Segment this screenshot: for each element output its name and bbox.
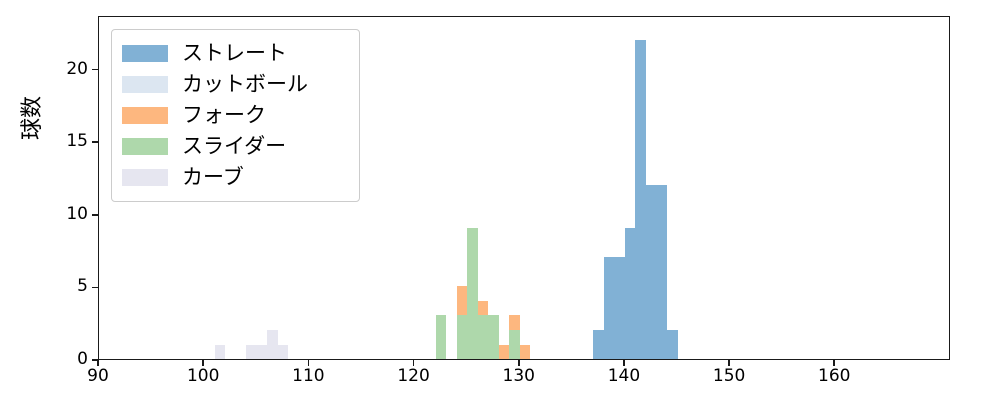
histogram-bar [520, 345, 531, 360]
y-tick-label: 5 [44, 276, 88, 296]
x-tick-label: 160 [804, 366, 864, 386]
legend-item[interactable]: スライダー [122, 131, 347, 162]
legend-color-swatch [122, 76, 168, 93]
legend-item[interactable]: ストレート [122, 38, 347, 69]
x-tick-label: 100 [173, 366, 233, 386]
histogram-bar [604, 257, 625, 359]
x-tick-label: 110 [278, 366, 338, 386]
histogram-bar [488, 315, 499, 359]
legend-item-label: カーブ [182, 167, 244, 188]
legend-item-label: スライダー [182, 136, 286, 157]
y-tick-label: 15 [44, 131, 88, 151]
histogram-bar [499, 345, 510, 360]
y-tick-label: 20 [44, 59, 88, 79]
legend[interactable]: ストレートカットボールフォークスライダーカーブ [111, 29, 360, 202]
legend-item-label: ストレート [182, 43, 287, 64]
histogram-bar [467, 228, 478, 359]
legend-item-label: カットボール [182, 74, 308, 95]
x-tick-label: 90 [68, 366, 128, 386]
legend-color-swatch [122, 45, 168, 62]
histogram-bar [478, 315, 489, 359]
histogram-bar [246, 345, 267, 360]
legend-color-swatch [122, 138, 168, 155]
histogram-bar [457, 315, 468, 359]
histogram-bar [635, 40, 646, 359]
histogram-bar [625, 228, 636, 359]
legend-item[interactable]: カットボール [122, 69, 347, 100]
x-tick-label: 120 [384, 366, 444, 386]
x-tick-label: 150 [699, 366, 759, 386]
x-tick-label: 130 [489, 366, 549, 386]
histogram-figure: 球数 05101520 90100110120130140150160 ストレー… [0, 0, 1000, 400]
legend-item[interactable]: フォーク [122, 100, 347, 131]
legend-item-label: フォーク [182, 105, 266, 126]
histogram-bar [646, 185, 667, 359]
histogram-bar [509, 330, 520, 359]
y-tick-label: 10 [44, 204, 88, 224]
legend-color-swatch [122, 169, 168, 186]
y-axis-label: 球数 [14, 96, 46, 140]
histogram-bar [267, 330, 278, 359]
legend-item[interactable]: カーブ [122, 162, 347, 193]
histogram-bar [593, 330, 604, 359]
histogram-bar [436, 315, 447, 359]
x-tick-label: 140 [594, 366, 654, 386]
legend-color-swatch [122, 107, 168, 124]
histogram-bar [215, 345, 226, 360]
histogram-bar [667, 330, 678, 359]
histogram-bar [278, 345, 289, 360]
